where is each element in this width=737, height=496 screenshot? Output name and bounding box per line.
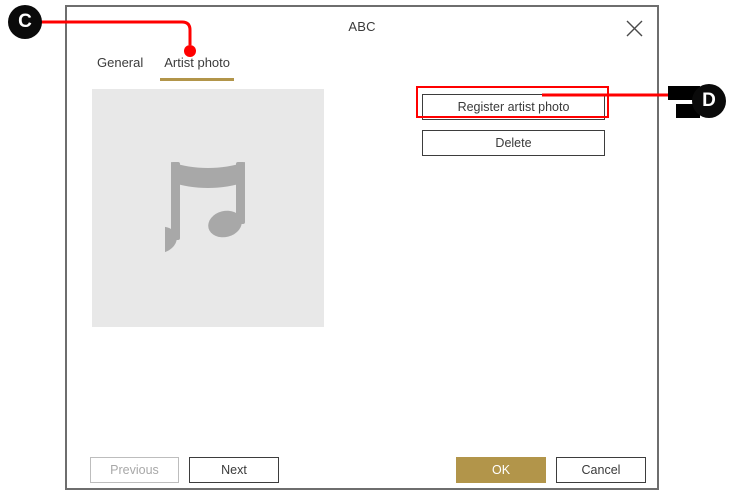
tab-bar: General Artist photo: [93, 55, 247, 83]
delete-artist-photo-button[interactable]: Delete: [422, 130, 605, 156]
tab-general[interactable]: General: [93, 55, 147, 81]
next-button[interactable]: Next: [189, 457, 279, 483]
tab-artist-photo[interactable]: Artist photo: [160, 55, 234, 81]
music-note-icon: [165, 158, 251, 258]
close-icon[interactable]: [620, 15, 648, 41]
previous-button[interactable]: Previous: [90, 457, 179, 483]
dialog-titlebar: ABC: [67, 7, 657, 47]
callout-marker-c: C: [8, 5, 42, 39]
register-artist-photo-button[interactable]: Register artist photo: [422, 94, 605, 120]
artist-photo-preview: [92, 89, 324, 327]
callout-marker-d: D: [692, 84, 726, 118]
ok-button[interactable]: OK: [456, 457, 546, 483]
dialog-title: ABC: [67, 19, 657, 34]
cancel-button[interactable]: Cancel: [556, 457, 646, 483]
artist-properties-dialog: ABC General Artist photo: [65, 5, 659, 490]
